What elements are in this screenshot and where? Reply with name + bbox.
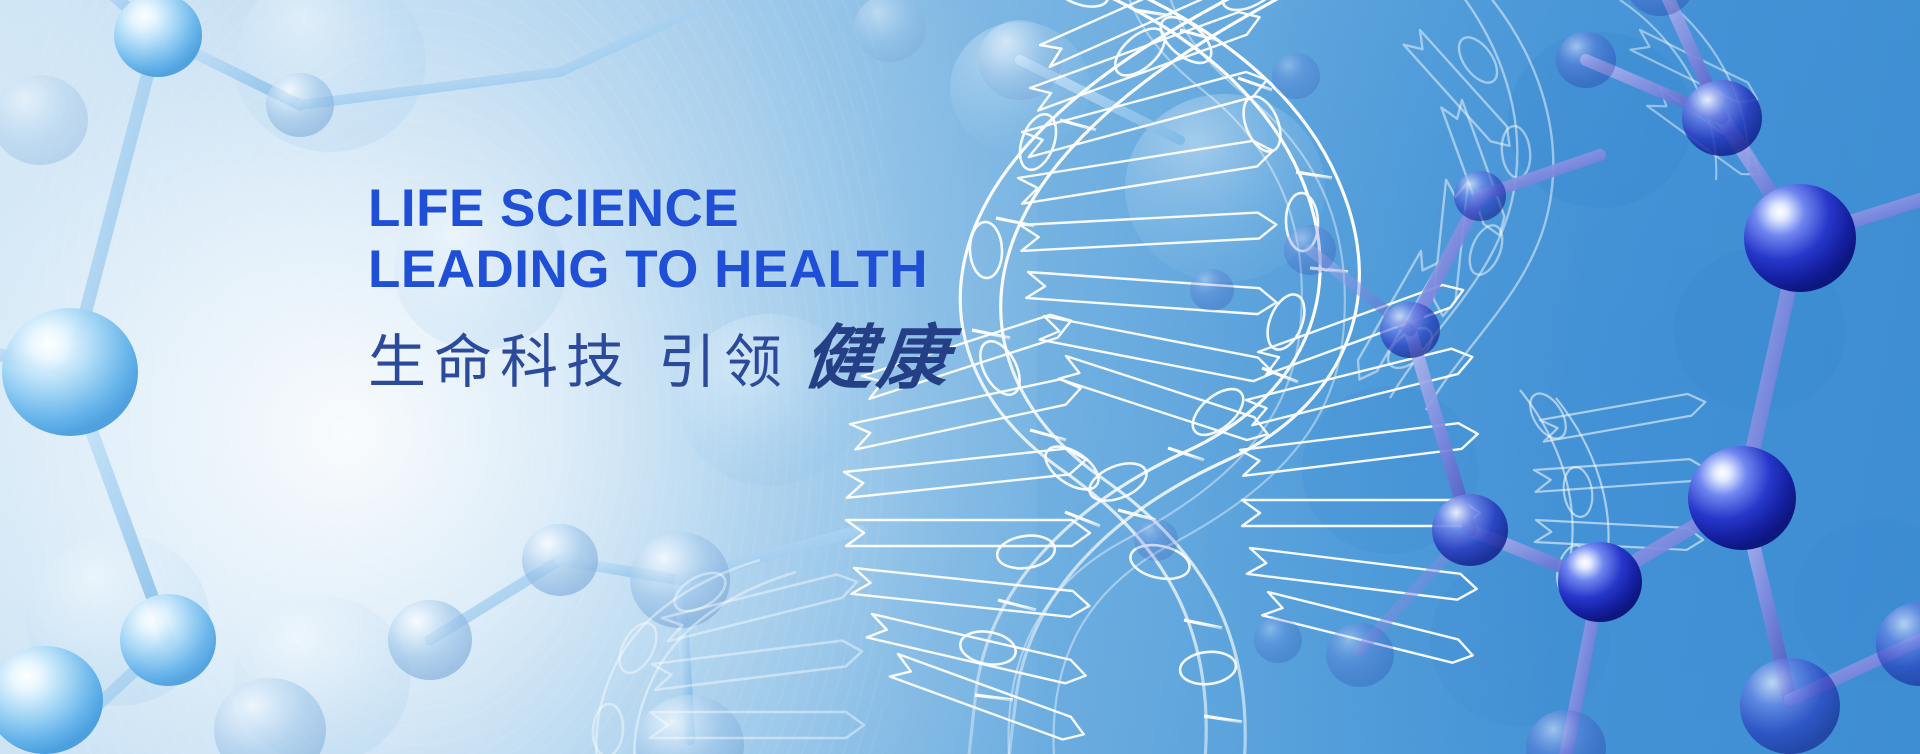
subheadline-part-2: 引领 xyxy=(658,333,790,391)
life-science-banner: LIFE SCIENCE LEADING TO HEALTH 生命科技 引领 健… xyxy=(0,0,1920,754)
subheadline: 生命科技 引领 健康 xyxy=(368,323,952,393)
subheadline-part-1: 生命科技 xyxy=(368,333,632,391)
banner-text-block: LIFE SCIENCE LEADING TO HEALTH 生命科技 引领 健… xyxy=(368,178,952,393)
subheadline-part-3-calligraphy: 健康 xyxy=(800,323,955,393)
headline-line-2: LEADING TO HEALTH xyxy=(368,239,952,300)
headline-line-1: LIFE SCIENCE xyxy=(368,178,952,239)
background-right-wash xyxy=(1133,0,1920,754)
